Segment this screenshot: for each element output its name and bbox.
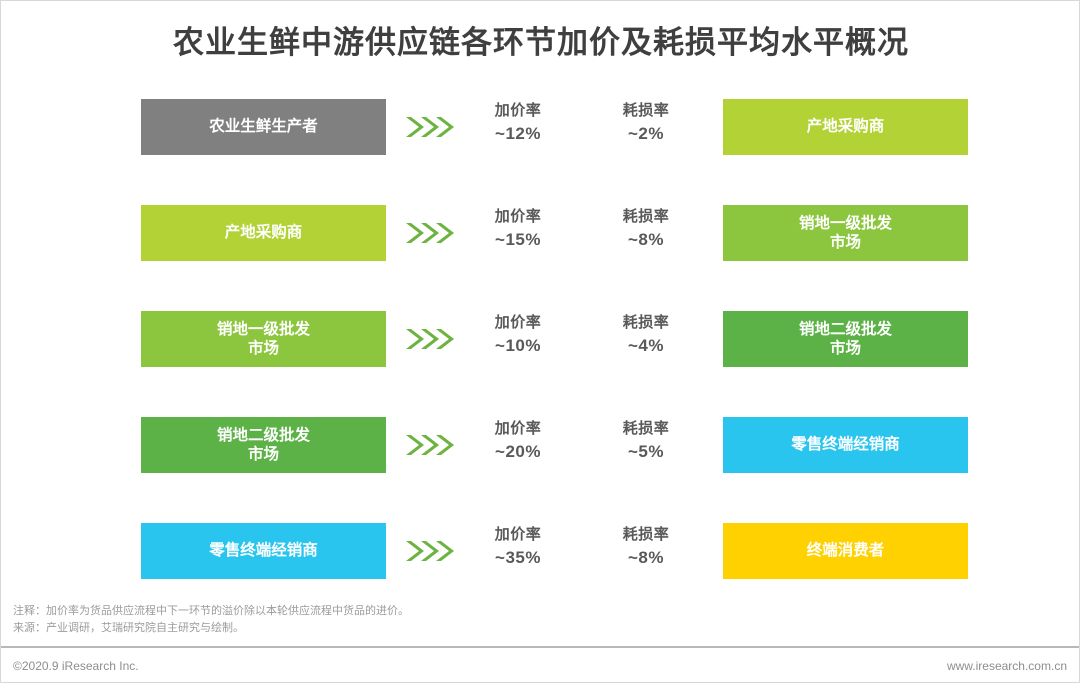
markup-rate-cell: 加价率~20% (458, 419, 578, 465)
markup-rate-cell: 加价率~12% (458, 101, 578, 147)
footnote-definition: 注释：加价率为货品供应流程中下一环节的溢价除以本轮供应流程中货品的进价。 (13, 603, 1013, 620)
infographic-page: 农业生鲜中游供应链各环节加价及耗损平均水平概况 农业生鲜生产者加价率~12%耗损… (0, 0, 1080, 683)
node-box-right[interactable]: 销地二级批发市场 (723, 311, 968, 367)
node-box-label: 零售终端经销商 (209, 541, 318, 560)
node-box-label: 销地一级批发市场 (799, 214, 892, 253)
node-box-label: 终端消费者 (807, 541, 885, 560)
markup-rate-label: 加价率 (458, 313, 578, 333)
website-url: www.iresearch.com.cn (947, 659, 1067, 673)
loss-rate-label: 耗损率 (586, 419, 706, 439)
markup-rate-cell: 加价率~10% (458, 313, 578, 359)
node-box-label: 零售终端经销商 (791, 435, 900, 454)
markup-rate-label: 加价率 (458, 525, 578, 545)
node-box-label: 产地采购商 (225, 223, 303, 242)
node-box-left[interactable]: 销地二级批发市场 (141, 417, 386, 473)
node-box-left[interactable]: 农业生鲜生产者 (141, 99, 386, 155)
markup-rate-cell: 加价率~15% (458, 207, 578, 253)
footnotes: 注释：加价率为货品供应流程中下一环节的溢价除以本轮供应流程中货品的进价。 来源：… (13, 603, 1013, 637)
triple-chevron-right-icon (404, 535, 462, 567)
node-box-label: 销地二级批发市场 (799, 320, 892, 359)
footer-divider (1, 646, 1080, 648)
loss-rate-cell: 耗损率~8% (586, 207, 706, 253)
triple-chevron-right-icon (404, 111, 462, 143)
triple-chevron-right-icon (404, 217, 462, 249)
loss-rate-label: 耗损率 (586, 101, 706, 121)
node-box-label: 农业生鲜生产者 (209, 117, 318, 136)
markup-rate-cell: 加价率~35% (458, 525, 578, 571)
markup-rate-value: ~15% (458, 227, 578, 253)
node-box-left[interactable]: 零售终端经销商 (141, 523, 386, 579)
markup-rate-label: 加价率 (458, 207, 578, 227)
footer-bar: ©2020.9 iResearch Inc. www.iresearch.com… (1, 654, 1080, 683)
node-box-right[interactable]: 销地一级批发市场 (723, 205, 968, 261)
loss-rate-cell: 耗损率~8% (586, 525, 706, 571)
loss-rate-value: ~8% (586, 227, 706, 253)
flow-row: 销地二级批发市场加价率~20%耗损率~5%零售终端经销商 (1, 417, 1080, 473)
loss-rate-value: ~2% (586, 121, 706, 147)
loss-rate-value: ~4% (586, 333, 706, 359)
markup-rate-value: ~10% (458, 333, 578, 359)
loss-rate-cell: 耗损率~2% (586, 101, 706, 147)
loss-rate-value: ~5% (586, 439, 706, 465)
copyright-text: ©2020.9 iResearch Inc. (13, 659, 139, 673)
loss-rate-label: 耗损率 (586, 313, 706, 333)
node-box-left[interactable]: 产地采购商 (141, 205, 386, 261)
footnote-source: 来源：产业调研，艾瑞研究院自主研究与绘制。 (13, 620, 1013, 637)
triple-chevron-right-icon (404, 429, 462, 461)
flow-row: 零售终端经销商加价率~35%耗损率~8%终端消费者 (1, 523, 1080, 579)
markup-rate-value: ~35% (458, 545, 578, 571)
flow-row: 销地一级批发市场加价率~10%耗损率~4%销地二级批发市场 (1, 311, 1080, 367)
loss-rate-label: 耗损率 (586, 525, 706, 545)
supply-chain-flow: 农业生鲜生产者加价率~12%耗损率~2%产地采购商产地采购商加价率~15%耗损率… (1, 99, 1080, 629)
flow-row: 农业生鲜生产者加价率~12%耗损率~2%产地采购商 (1, 99, 1080, 155)
node-box-label: 销地二级批发市场 (217, 426, 310, 465)
markup-rate-value: ~12% (458, 121, 578, 147)
triple-chevron-right-icon (404, 323, 462, 355)
markup-rate-value: ~20% (458, 439, 578, 465)
loss-rate-label: 耗损率 (586, 207, 706, 227)
loss-rate-cell: 耗损率~5% (586, 419, 706, 465)
node-box-right[interactable]: 产地采购商 (723, 99, 968, 155)
loss-rate-value: ~8% (586, 545, 706, 571)
node-box-label: 销地一级批发市场 (217, 320, 310, 359)
markup-rate-label: 加价率 (458, 419, 578, 439)
node-box-right[interactable]: 零售终端经销商 (723, 417, 968, 473)
page-title: 农业生鲜中游供应链各环节加价及耗损平均水平概况 (1, 17, 1080, 62)
flow-row: 产地采购商加价率~15%耗损率~8%销地一级批发市场 (1, 205, 1080, 261)
loss-rate-cell: 耗损率~4% (586, 313, 706, 359)
markup-rate-label: 加价率 (458, 101, 578, 121)
node-box-right[interactable]: 终端消费者 (723, 523, 968, 579)
node-box-left[interactable]: 销地一级批发市场 (141, 311, 386, 367)
node-box-label: 产地采购商 (807, 117, 885, 136)
